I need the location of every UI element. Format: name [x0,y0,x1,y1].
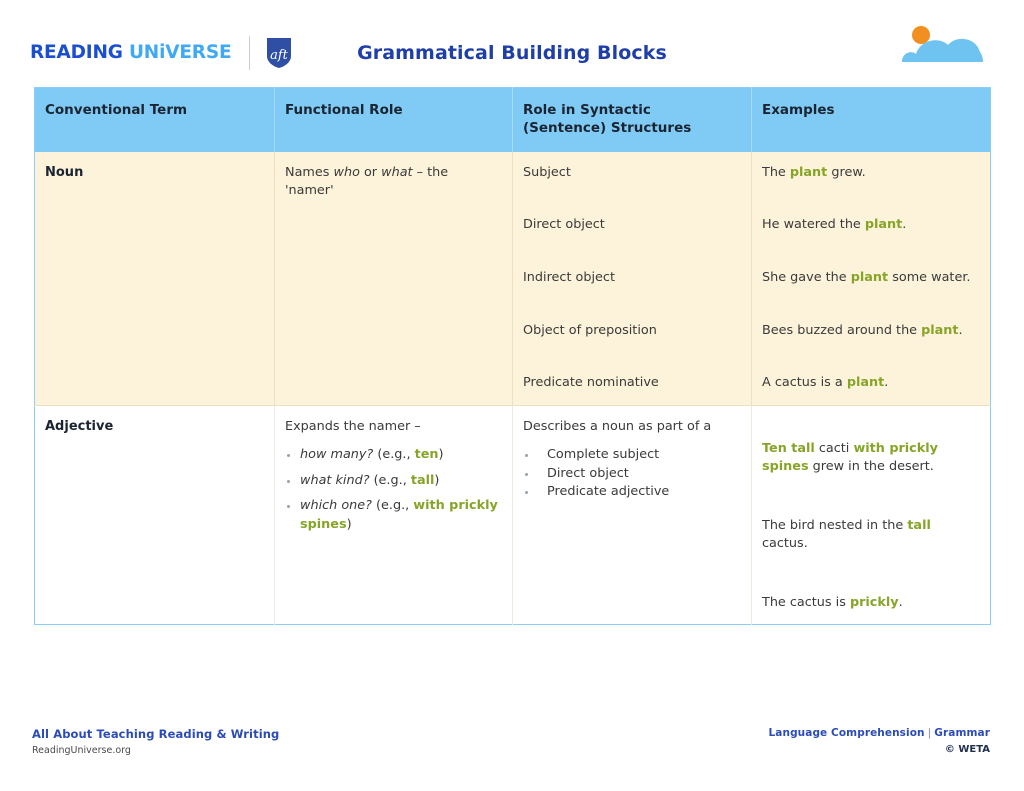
example-highlight: prickly [850,595,899,610]
page-header: READING UNiVERSE aft Grammatical Buildin… [0,0,1024,86]
term-label: Noun [45,165,83,180]
bullet-highlight: ten [415,447,439,462]
example-before: He watered the [762,217,865,232]
example-highlight: tall [907,518,931,533]
cell-syntactic-roles-adjective: Describes a noun as part of a Complete s… [513,405,752,625]
column-header-syntactic-role: Role in Syntactic (Sentence) Structures [513,88,752,152]
syntactic-role-item: Direct object [523,216,737,235]
table-header-row: Conventional Term Functional Role Role i… [35,88,991,152]
syntactic-lead: Describes a noun as part of a [523,418,737,437]
table-row: Noun Names who or what – the 'namer' Sub… [35,152,991,405]
example-highlight: plant [851,270,888,285]
example-after: some water. [888,270,970,285]
bullet-mid: (e.g., [370,473,411,488]
list-item: Complete subject [523,446,737,465]
example-before: The bird nested in the [762,518,907,533]
page-title: Grammatical Building Blocks [0,42,1024,64]
bullet-question: how many? [300,447,373,462]
bullet-highlight: tall [411,473,435,488]
term-label: Adjective [45,419,113,434]
syntactic-header-line2: (Sentence) Structures [523,120,691,136]
bullet-mid: (e.g., [373,447,414,462]
syntactic-role-item: Indirect object [523,269,737,288]
example-highlight: Ten tall [762,441,815,456]
example-before: A cactus is a [762,375,847,390]
syntactic-header-line1: Role in Syntactic [523,102,651,118]
example-highlight: plant [790,165,827,180]
example-sentence: The plant grew. [762,164,976,183]
example-before: Bees buzzed around the [762,323,921,338]
footer-left-block: All About Teaching Reading & Writing Rea… [32,727,279,756]
example-after: grew in the desert. [809,459,934,474]
example-after: . [902,217,906,232]
bullet-mid: (e.g., [372,498,413,513]
cell-term-adjective: Adjective [35,405,275,625]
list-item: what kind? (e.g., tall) [285,472,498,491]
functional-role-italic-who: who [334,165,360,180]
example-sentence: He watered the plant. [762,216,976,235]
example-before: The [762,165,790,180]
example-sentence: She gave the plant some water. [762,269,976,288]
list-item: Predicate adjective [523,483,737,502]
functional-role-lead: Expands the namer – [285,418,498,437]
syntactic-role-item: Predicate nominative [523,374,737,393]
cell-examples-noun: The plant grew. He watered the plant. Sh… [752,152,991,405]
bullet-after: ) [439,447,444,462]
footer-title: All About Teaching Reading & Writing [32,727,279,741]
example-sentence: Bees buzzed around the plant. [762,322,976,341]
example-after: grew. [827,165,865,180]
syntactic-role-item: Object of preposition [523,322,737,341]
footer-url[interactable]: ReadingUniverse.org [32,745,279,756]
list-item: how many? (e.g., ten) [285,446,498,465]
cell-examples-adjective: Ten tall cacti with prickly spines grew … [752,405,991,625]
example-after: cactus. [762,536,808,551]
sun-cloud-icon [894,24,990,64]
functional-role-italic-what: what [381,165,412,180]
bullet-question: which one? [300,498,372,513]
bullet-after: ) [347,517,352,532]
breadcrumb-primary: Language Comprehension [769,727,925,739]
copyright-notice: © WETA [769,744,990,755]
cell-functional-role-noun: Names who or what – the 'namer' [275,152,513,405]
example-after: . [899,595,903,610]
example-sentence: The bird nested in the tall cactus. [762,517,976,554]
example-before: The cactus is [762,595,850,610]
bullet-after: ) [434,473,439,488]
example-sentence: Ten tall cacti with prickly spines grew … [762,440,976,477]
example-after: . [959,323,963,338]
page-footer: All About Teaching Reading & Writing Rea… [0,721,1024,791]
column-header-conventional-term: Conventional Term [35,88,275,152]
syntactic-role-item: Subject [523,164,737,183]
column-header-functional-role: Functional Role [275,88,513,152]
cell-functional-role-adjective: Expands the namer – how many? (e.g., ten… [275,405,513,625]
cell-syntactic-roles-noun: Subject Direct object Indirect object Ob… [513,152,752,405]
column-header-examples: Examples [752,88,991,152]
list-item: Direct object [523,465,737,484]
example-after: . [884,375,888,390]
table-row: Adjective Expands the namer – how many? … [35,405,991,625]
list-item: which one? (e.g., with prickly spines) [285,497,498,534]
syntactic-bullet-list: Complete subject Direct object Predicate… [523,446,737,502]
functional-role-mid: or [360,165,381,180]
example-before: She gave the [762,270,851,285]
cell-term-noun: Noun [35,152,275,405]
functional-role-bullet-list: how many? (e.g., ten) what kind? (e.g., … [285,446,498,534]
functional-role-prefix: Names [285,165,334,180]
breadcrumb: Language Comprehension|Grammar [769,727,990,739]
breadcrumb-secondary: Grammar [934,727,990,739]
example-highlight: plant [865,217,902,232]
grammar-table: Conventional Term Functional Role Role i… [34,87,991,625]
example-mid: cacti [815,441,854,456]
footer-right-block: Language Comprehension|Grammar © WETA [769,727,990,755]
example-highlight: plant [847,375,884,390]
example-sentence: A cactus is a plant. [762,374,976,393]
example-sentence: The cactus is prickly. [762,594,976,613]
example-highlight: plant [921,323,958,338]
breadcrumb-separator: | [925,727,935,739]
bullet-question: what kind? [300,473,370,488]
